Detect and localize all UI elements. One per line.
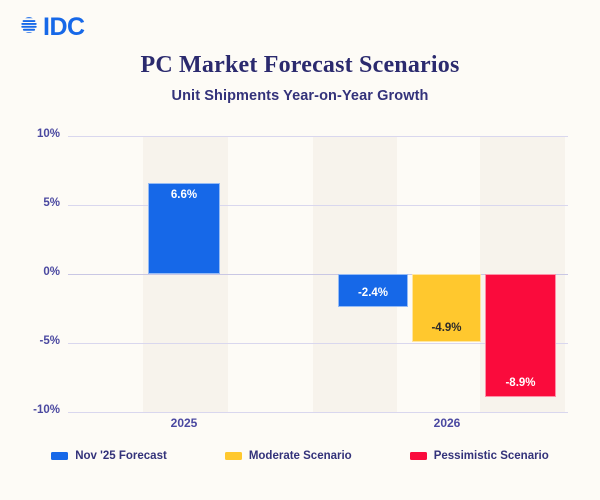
- legend-item[interactable]: Moderate Scenario: [225, 450, 352, 462]
- chart-bar-value-label: -2.4%: [338, 287, 408, 299]
- legend-swatch-icon: [225, 452, 242, 460]
- y-axis-tick-label: -5%: [10, 335, 60, 347]
- bar-chart: 10%5%0%-5%-10%6.6%-2.4%-4.9%-8.9%2025202…: [0, 0, 600, 500]
- y-axis-tick-label: 5%: [10, 197, 60, 209]
- legend-swatch-icon: [51, 452, 68, 460]
- chart-legend: Nov '25 ForecastModerate ScenarioPessimi…: [0, 450, 600, 462]
- legend-item[interactable]: Nov '25 Forecast: [51, 450, 167, 462]
- y-axis-tick-label: 0%: [10, 266, 60, 278]
- legend-item-label: Moderate Scenario: [249, 450, 352, 462]
- legend-item-label: Nov '25 Forecast: [75, 450, 167, 462]
- chart-bar-value-label: -8.9%: [485, 377, 556, 389]
- chart-gridline: [68, 412, 568, 413]
- x-axis-tick-label: 2025: [139, 416, 229, 430]
- legend-item[interactable]: Pessimistic Scenario: [410, 450, 549, 462]
- y-axis-tick-label: -10%: [10, 404, 60, 416]
- chart-bar-value-label: 6.6%: [148, 189, 220, 201]
- chart-gridline: [68, 205, 568, 206]
- chart-bar-value-label: -4.9%: [412, 322, 481, 334]
- legend-item-label: Pessimistic Scenario: [434, 450, 549, 462]
- legend-swatch-icon: [410, 452, 427, 460]
- chart-gridline: [68, 136, 568, 137]
- x-axis-tick-label: 2026: [402, 416, 492, 430]
- y-axis-tick-label: 10%: [10, 128, 60, 140]
